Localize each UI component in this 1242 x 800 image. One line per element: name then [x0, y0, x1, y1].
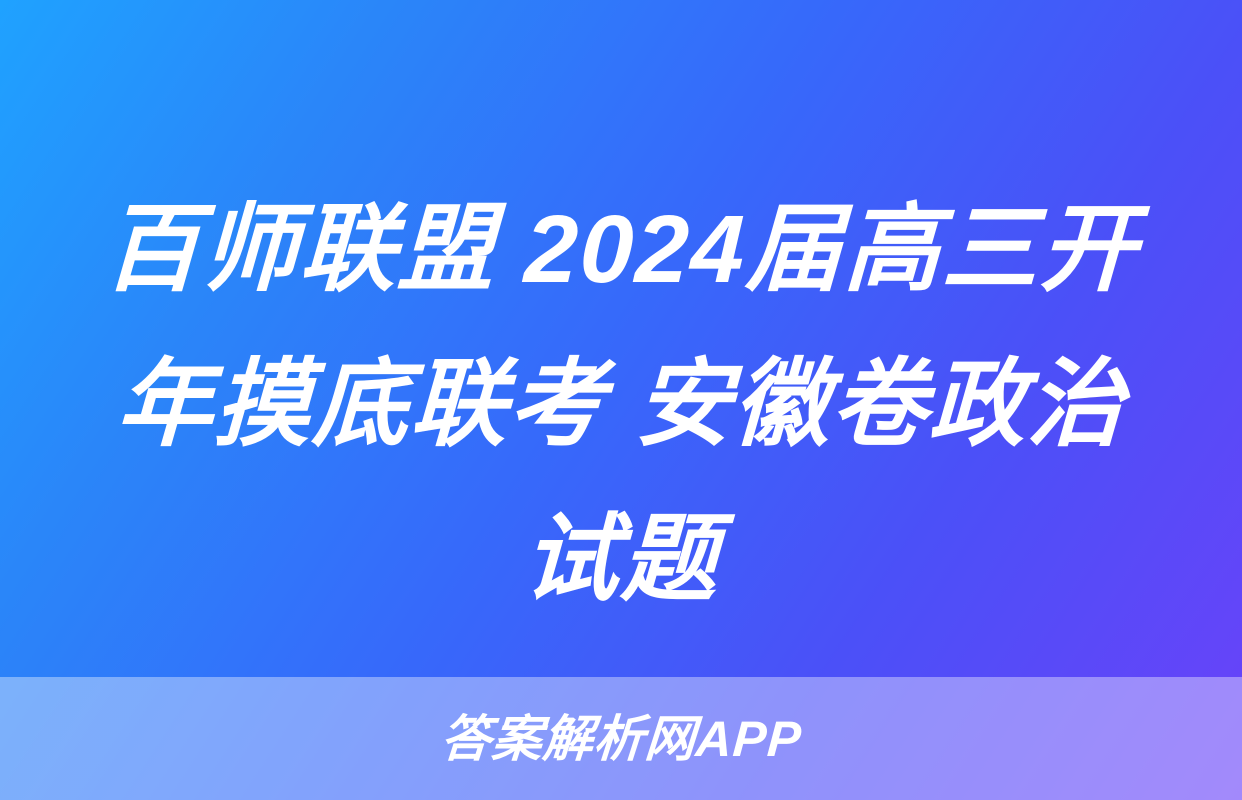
watermark-brand-label: 答案解析网APP	[439, 714, 803, 764]
page-title-line-2: 年摸底联考 安徽卷政治	[53, 327, 1188, 482]
page-title: 百师联盟 2024届高三开 年摸底联考 安徽卷政治 试题	[0, 172, 1242, 637]
page-title-line-3: 试题	[53, 482, 1188, 637]
watermark-band: 答案解析网APP	[0, 677, 1242, 800]
page-title-line-1: 百师联盟 2024届高三开	[53, 172, 1188, 327]
exam-cover-card: 百师联盟 2024届高三开 年摸底联考 安徽卷政治 试题 答案解析网APP	[0, 0, 1242, 800]
